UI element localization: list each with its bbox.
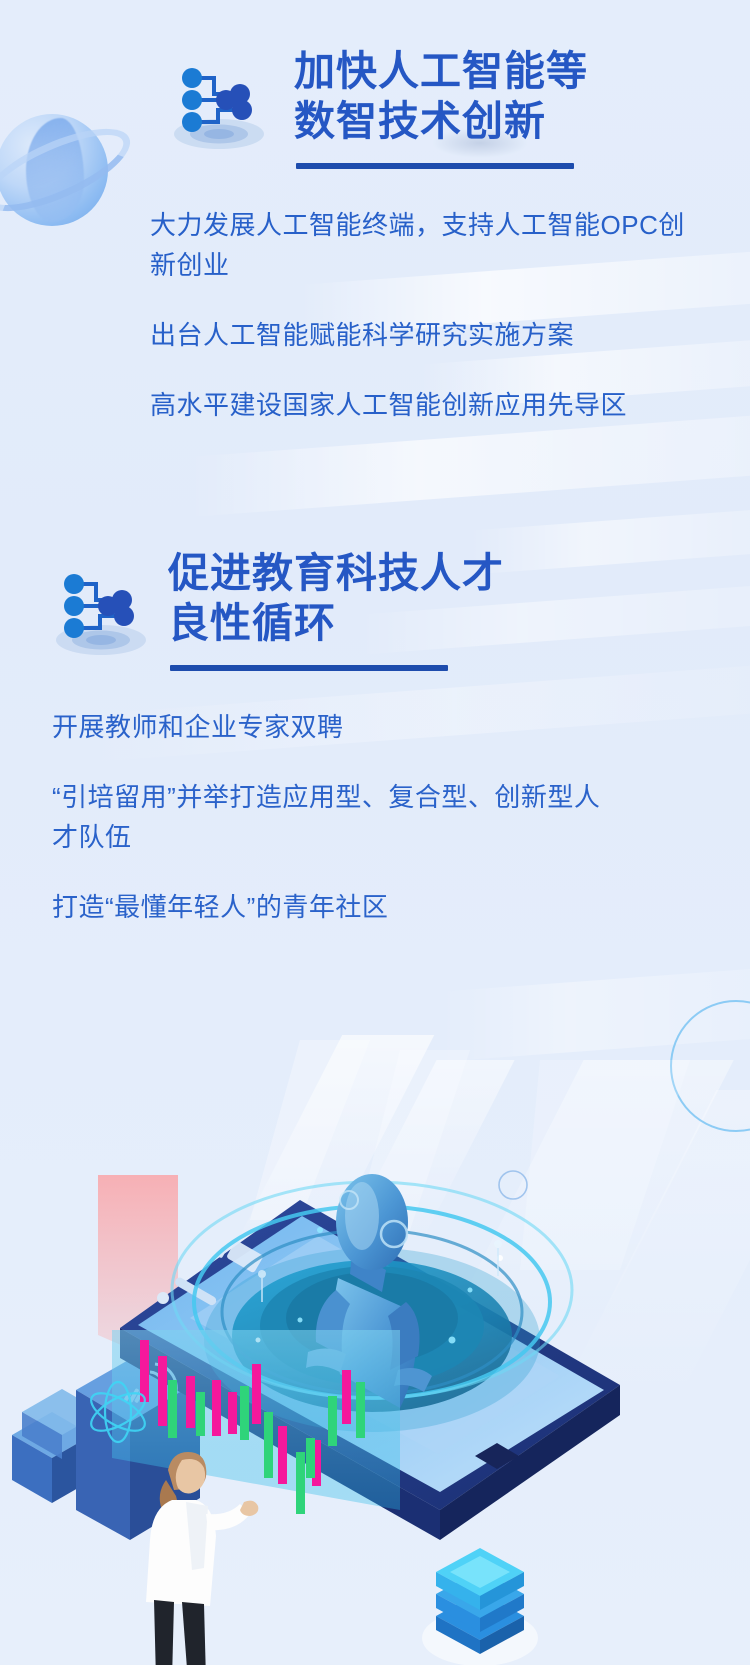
title-underline: [296, 163, 574, 169]
section-header: 促进教育科技人才 良性循环: [0, 548, 750, 671]
title-line-1: 加快人工智能等: [294, 46, 588, 96]
title-line-1: 促进教育科技人才: [168, 548, 504, 598]
section-body-list: 大力发展人工智能终端，支持人工智能OPC创新创业 出台人工智能赋能科学研究实施方…: [0, 205, 750, 425]
title-line-2: 数智技术创新: [294, 96, 588, 146]
section-title: 加快人工智能等 数智技术创新: [294, 46, 588, 169]
section-title: 促进教育科技人才 良性循环: [168, 548, 504, 671]
network-nodes-icon: [170, 60, 268, 152]
network-nodes-icon: [52, 566, 150, 658]
list-item: 出台人工智能赋能科学研究实施方案: [150, 315, 710, 355]
section-ai-innovation: 加快人工智能等 数智技术创新 大力发展人工智能终端，支持人工智能OPC创新创业 …: [0, 46, 750, 425]
list-item: “引培留用”并举打造应用型、复合型、创新型人才队伍: [52, 777, 612, 857]
list-item: 大力发展人工智能终端，支持人工智能OPC创新创业: [150, 205, 710, 285]
section-education-talent: 促进教育科技人才 良性循环 开展教师和企业专家双聘 “引培留用”并举打造应用型、…: [0, 548, 750, 927]
infographic-page: 加快人工智能等 数智技术创新 大力发展人工智能终端，支持人工智能OPC创新创业 …: [0, 0, 750, 1665]
title-line-2: 良性循环: [168, 598, 504, 648]
list-item: 开展教师和企业专家双聘: [52, 707, 612, 747]
list-item: 高水平建设国家人工智能创新应用先导区: [150, 385, 710, 425]
list-item: 打造“最懂年轻人”的青年社区: [52, 887, 612, 927]
section-body-list: 开展教师和企业专家双聘 “引培留用”并举打造应用型、复合型、创新型人才队伍 打造…: [0, 707, 750, 927]
title-underline: [170, 665, 448, 671]
section-header: 加快人工智能等 数智技术创新: [0, 46, 750, 169]
isometric-ai-tablet-scene: [0, 1040, 750, 1665]
